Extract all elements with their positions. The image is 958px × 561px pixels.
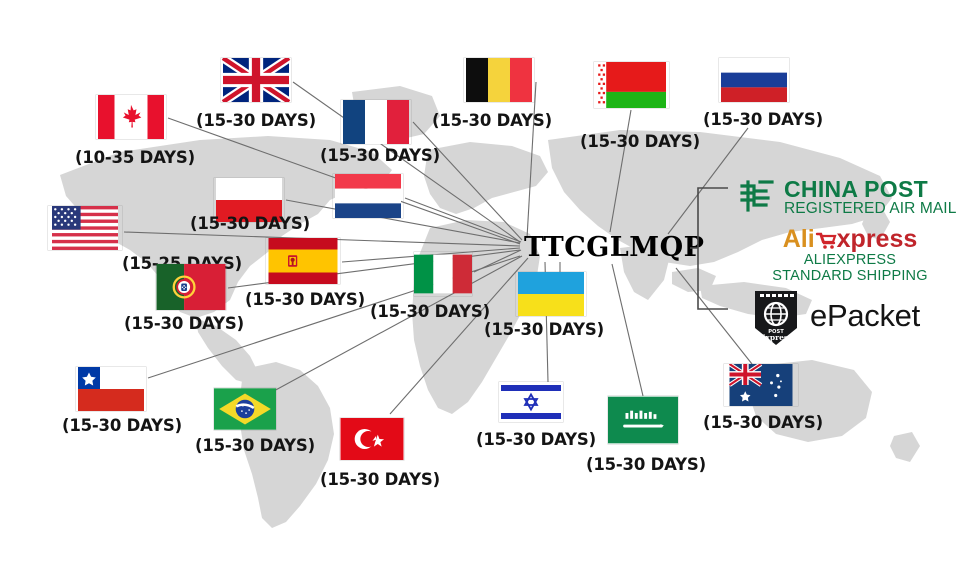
delivery-time-israel: (15-30 DAYS) bbox=[476, 430, 596, 449]
aliexpress-logo-ali: Ali bbox=[783, 225, 815, 253]
flag-uk bbox=[221, 58, 291, 102]
flag-portugal bbox=[156, 264, 226, 310]
epacket-label: ePacket bbox=[810, 298, 920, 334]
flag-chile bbox=[76, 367, 146, 411]
flag-turkey bbox=[340, 418, 404, 460]
flag-ukraine bbox=[516, 272, 586, 316]
delivery-time-belarus: (15-30 DAYS) bbox=[580, 132, 700, 151]
delivery-time-uk: (15-30 DAYS) bbox=[196, 111, 316, 130]
flag-france bbox=[341, 100, 411, 144]
carrier-aliexpress: Ali xpress ALIEXPRESS STANDARD SHIPPING bbox=[750, 226, 950, 285]
china-post-logo bbox=[738, 179, 778, 213]
flag-russia bbox=[719, 58, 789, 102]
delivery-time-belgium: (15-30 DAYS) bbox=[432, 111, 552, 130]
delivery-time-ukraine: (15-30 DAYS) bbox=[484, 320, 604, 339]
shopping-cart-icon bbox=[815, 226, 837, 252]
flag-australia bbox=[724, 364, 798, 406]
delivery-time-australia: (15-30 DAYS) bbox=[703, 413, 823, 432]
flag-belgium bbox=[464, 58, 534, 102]
flag-saudi-arabia bbox=[608, 396, 678, 444]
delivery-time-italy: (15-30 DAYS) bbox=[370, 302, 490, 321]
flag-canada bbox=[96, 95, 166, 139]
brand-name: TTCGLMQP bbox=[524, 232, 704, 263]
delivery-time-canada: (10-35 DAYS) bbox=[75, 148, 195, 167]
epacket-badge-icon: POST Express bbox=[752, 288, 800, 348]
flag-netherlands bbox=[333, 174, 403, 218]
svg-text:Express: Express bbox=[760, 333, 793, 342]
delivery-time-spain: (15-30 DAYS) bbox=[245, 290, 365, 309]
flag-italy bbox=[414, 252, 472, 296]
flag-belarus bbox=[594, 62, 669, 108]
aliexpress-line1: ALIEXPRESS bbox=[750, 252, 950, 268]
aliexpress-line2: STANDARD SHIPPING bbox=[750, 268, 950, 284]
flag-usa bbox=[48, 206, 122, 250]
flag-israel bbox=[499, 382, 563, 422]
china-post-subtitle: REGISTERED AIR MAIL bbox=[784, 200, 956, 218]
delivery-time-saudi-arabia: (15-30 DAYS) bbox=[586, 455, 706, 474]
china-post-title: CHINA POST bbox=[784, 176, 928, 203]
delivery-time-russia: (15-30 DAYS) bbox=[703, 110, 823, 129]
delivery-time-france: (15-30 DAYS) bbox=[320, 146, 440, 165]
delivery-time-chile: (15-30 DAYS) bbox=[62, 416, 182, 435]
aliexpress-logo: Ali xpress bbox=[750, 226, 950, 252]
delivery-time-turkey: (15-30 DAYS) bbox=[320, 470, 440, 489]
delivery-time-poland: (15-30 DAYS) bbox=[190, 214, 310, 233]
shipping-infographic: (10-35 DAYS) (15-30 DAYS) (15-30 DAYS) (… bbox=[0, 0, 958, 561]
delivery-time-portugal: (15-30 DAYS) bbox=[124, 314, 244, 333]
flag-brazil bbox=[214, 388, 276, 430]
flag-spain bbox=[266, 238, 340, 284]
delivery-time-brazil: (15-30 DAYS) bbox=[195, 436, 315, 455]
aliexpress-logo-xpress: xpress bbox=[837, 225, 918, 253]
carrier-bracket bbox=[690, 186, 730, 311]
